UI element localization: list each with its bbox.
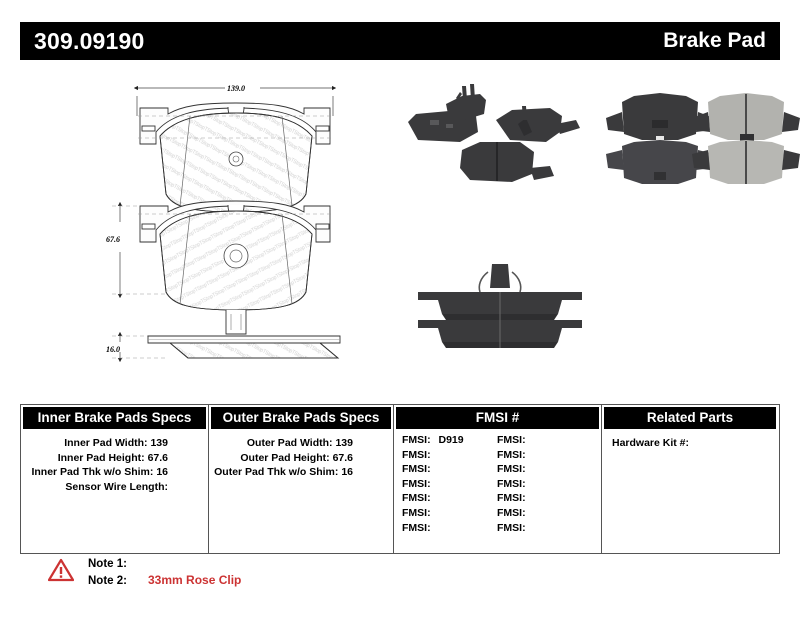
pad-rear-view [138, 201, 332, 334]
pad-side-view [148, 336, 340, 358]
spec-label: Sensor Wire Length: [65, 481, 168, 493]
spec-value: 139 [335, 437, 353, 449]
fmsi-row: FMSI: [497, 448, 592, 463]
spec-row: Outer Pad Width: 139 [209, 436, 393, 451]
fmsi-row: FMSI: [497, 491, 592, 506]
spec-table: Inner Brake Pads Specs Inner Pad Width: … [20, 404, 780, 554]
spec-column-inner-header: Inner Brake Pads Specs [23, 407, 206, 429]
warning-triangle-icon [48, 558, 74, 582]
spec-column-outer: Outer Brake Pads Specs Outer Pad Width: … [208, 405, 393, 553]
spec-label: Inner Pad Thk w/o Shim: [31, 466, 153, 478]
pad-friction-bottom-right [692, 140, 800, 184]
fmsi-label: FMSI: [402, 434, 431, 446]
fmsi-row: FMSI: [497, 462, 592, 477]
pad-front-view [138, 103, 332, 212]
related-label: Hardware Kit #: [612, 437, 689, 449]
spec-column-outer-header: Outer Brake Pads Specs [211, 407, 391, 429]
drawing-area: StopTech StopTech 139.0 [20, 66, 780, 396]
note-2-value: 33mm Rose Clip [140, 572, 241, 588]
fmsi-label: FMSI: [497, 449, 526, 461]
spec-row: Inner Pad Thk w/o Shim: 16 [21, 465, 208, 480]
spec-row: Sensor Wire Length: [21, 480, 208, 495]
fmsi-row: FMSI: [497, 477, 592, 492]
spec-label: Outer Pad Width: [247, 437, 333, 449]
fmsi-row: FMSI: [402, 477, 497, 492]
spec-row: Outer Pad Height: 67.6 [209, 451, 393, 466]
notes-section: Note 1: Note 2: 33mm Rose Clip [48, 556, 241, 589]
dimension-thickness-label: 16.0 [106, 345, 120, 354]
part-number: 309.09190 [34, 28, 145, 55]
fmsi-row: FMSI: [402, 448, 497, 463]
fmsi-label: FMSI: [497, 522, 526, 534]
fmsi-label: FMSI: [402, 449, 431, 461]
spec-value: 16 [156, 466, 168, 478]
fmsi-row: FMSI: [497, 521, 592, 536]
fmsi-label: FMSI: [402, 478, 431, 490]
fmsi-row: FMSI: [497, 506, 592, 521]
spec-column-related-header: Related Parts [604, 407, 776, 429]
product-type: Brake Pad [663, 29, 766, 53]
spec-row: Outer Pad Thk w/o Shim: 16 [209, 465, 393, 480]
product-photo-pad-set [600, 80, 800, 200]
fmsi-label: FMSI: [402, 463, 431, 475]
fmsi-label: FMSI: [402, 507, 431, 519]
fmsi-label: FMSI: [402, 522, 431, 534]
note-row-1: Note 1: [88, 556, 241, 572]
dimension-height-label: 67.6 [106, 235, 120, 244]
product-photo-kit [400, 80, 600, 200]
fmsi-label: FMSI: [497, 492, 526, 504]
note-2-label: Note 2: [88, 573, 140, 589]
fmsi-row: FMSI: [402, 462, 497, 477]
spec-value: 67.6 [333, 452, 353, 464]
fmsi-label: FMSI: [402, 492, 431, 504]
fmsi-label: FMSI: [497, 507, 526, 519]
pad-friction-top-right [692, 93, 800, 142]
spec-row: Inner Pad Height: 67.6 [21, 451, 208, 466]
fmsi-value: D919 [439, 434, 464, 446]
fmsi-row: FMSI: [497, 433, 592, 448]
fmsi-row: FMSI: D919 [402, 433, 497, 448]
fmsi-left-column: FMSI: D919 FMSI: FMSI: FMSI: [402, 433, 497, 535]
spec-value: 16 [341, 466, 353, 478]
fmsi-label: FMSI: [497, 434, 526, 446]
fmsi-right-column: FMSI: FMSI: FMSI: FMSI: [497, 433, 592, 535]
page-header: 309.09190 Brake Pad [20, 22, 780, 60]
spec-column-fmsi-header: FMSI # [396, 407, 599, 429]
fmsi-label: FMSI: [497, 478, 526, 490]
spec-label: Outer Pad Height: [240, 452, 329, 464]
spec-value: 67.6 [148, 452, 168, 464]
spec-column-fmsi: FMSI # FMSI: D919 FMSI: FMSI: [393, 405, 601, 553]
fmsi-row: FMSI: [402, 506, 497, 521]
related-row: Hardware Kit #: [602, 436, 778, 451]
dimension-width-label: 139.0 [227, 84, 245, 93]
spec-label: Inner Pad Width: [64, 437, 147, 449]
spec-column-inner: Inner Brake Pads Specs Inner Pad Width: … [21, 405, 208, 553]
product-photo-edge-view [400, 262, 600, 352]
spec-column-related: Related Parts Hardware Kit #: [601, 405, 778, 553]
fmsi-row: FMSI: [402, 491, 497, 506]
note-row-2: Note 2: 33mm Rose Clip [88, 572, 241, 589]
spec-label: Inner Pad Height: [58, 452, 145, 464]
note-1-label: Note 1: [88, 556, 140, 572]
fmsi-label: FMSI: [497, 463, 526, 475]
spec-row: Inner Pad Width: 139 [21, 436, 208, 451]
spec-label: Outer Pad Thk w/o Shim: [214, 466, 338, 478]
spec-value: 139 [150, 437, 168, 449]
fmsi-row: FMSI: [402, 521, 497, 536]
